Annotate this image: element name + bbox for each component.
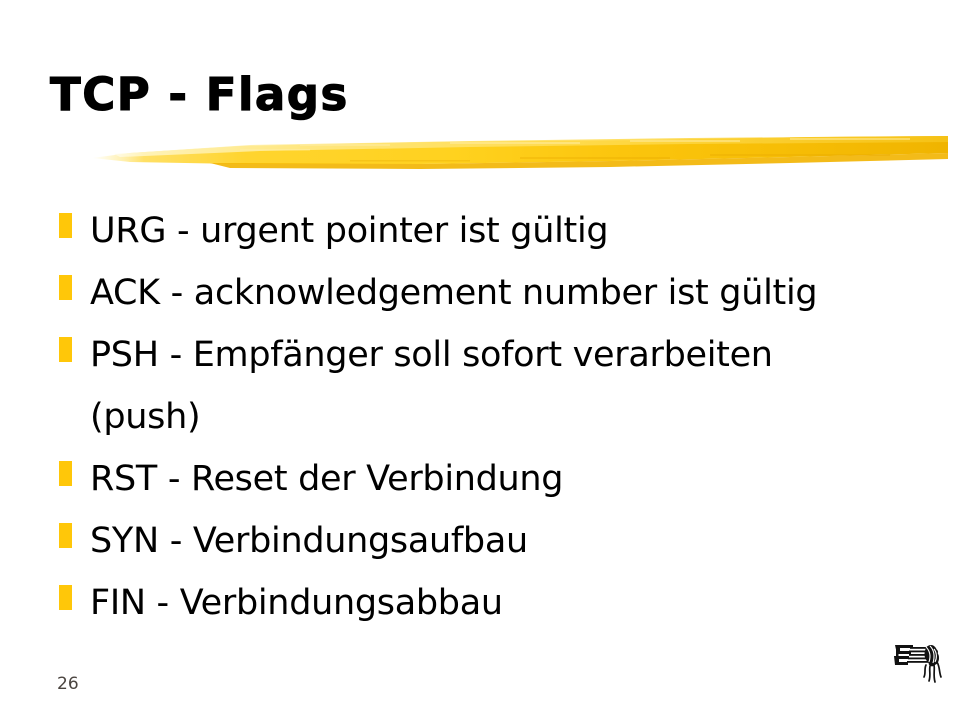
corner-emblem-icon: [893, 637, 949, 687]
square-bullet-icon: [59, 523, 72, 548]
bullet-list: URG - urgent pointer ist gültig ACK - ac…: [56, 200, 946, 634]
list-item: RST - Reset der Verbindung: [56, 448, 946, 510]
list-item-label: ACK - acknowledgement number ist gültig: [90, 273, 817, 313]
list-item-label: PSH - Empfänger soll sofort verarbeiten: [90, 335, 773, 375]
list-item: ACK - acknowledgement number ist gültig: [56, 262, 946, 324]
square-bullet-icon: [59, 461, 72, 486]
square-bullet-icon: [59, 585, 72, 610]
list-item: SYN - Verbindungsaufbau: [56, 510, 946, 572]
square-bullet-icon: [59, 213, 72, 238]
brush-underline-decoration: [90, 126, 950, 178]
slide-canvas: TCP - Flags: [0, 0, 959, 719]
square-bullet-icon: [59, 337, 72, 362]
list-item-label: URG - urgent pointer ist gültig: [90, 211, 608, 251]
square-bullet-icon: [59, 275, 72, 300]
list-item-continuation: (push): [90, 386, 946, 448]
list-item: URG - urgent pointer ist gültig: [56, 200, 946, 262]
page-number: 26: [57, 676, 79, 693]
list-item: PSH - Empfänger soll sofort verarbeiten …: [56, 324, 946, 448]
list-item: FIN - Verbindungsabbau: [56, 572, 946, 634]
list-item-label: SYN - Verbindungsaufbau: [90, 521, 528, 561]
list-item-label: FIN - Verbindungsabbau: [90, 583, 503, 623]
list-item-label: RST - Reset der Verbindung: [90, 459, 563, 499]
page-title: TCP - Flags: [50, 72, 349, 117]
